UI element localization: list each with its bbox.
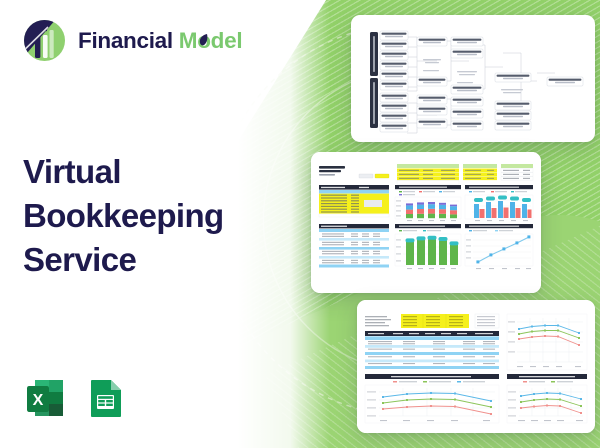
microsoft-excel-icon[interactable]: X bbox=[23, 376, 67, 420]
brand-name-part1: Financial bbox=[78, 28, 173, 53]
cash-summary-table bbox=[319, 224, 389, 268]
poster-canvas: Financial Model Virtual Bookkeeping Serv… bbox=[0, 0, 600, 448]
financial-dashboard-card[interactable] bbox=[311, 152, 541, 293]
projections-charts-card[interactable] bbox=[357, 300, 595, 433]
file-format-icons: X bbox=[23, 376, 127, 420]
net-profit-projection-line-chart bbox=[507, 385, 587, 423]
projection-charts bbox=[357, 300, 595, 433]
ratio-tree-diagram bbox=[351, 15, 595, 142]
leaf-accent-icon bbox=[199, 34, 208, 46]
svg-text:X: X bbox=[33, 392, 44, 409]
brand-logo[interactable]: Financial Model bbox=[22, 18, 242, 63]
dashboard-spreadsheet bbox=[311, 152, 541, 293]
financial-ratio-tree-card[interactable] bbox=[351, 15, 595, 142]
financial-model-circle-chart-logo bbox=[22, 18, 67, 63]
google-sheets-icon[interactable] bbox=[83, 376, 127, 420]
brand-name-part2: Model bbox=[179, 28, 243, 53]
brand-wordmark: Financial Model bbox=[78, 28, 242, 54]
revenue-projection-line-chart bbox=[507, 314, 587, 370]
page-title: Virtual Bookkeeping Service bbox=[23, 150, 298, 283]
ebitda-projection-line-chart bbox=[365, 385, 499, 423]
